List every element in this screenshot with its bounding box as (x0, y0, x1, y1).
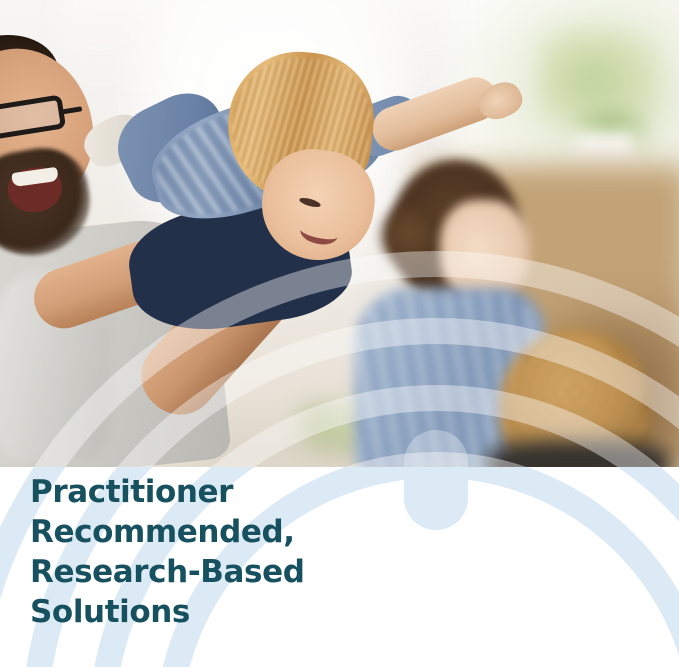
headline-panel: Practitioner Recommended, Research-Based… (0, 467, 679, 667)
headline-line-4: Solutions (30, 592, 450, 632)
hero-photo (0, 0, 679, 467)
headline-line-2: Recommended, (30, 512, 450, 552)
headline-line-3: Research-Based (30, 552, 450, 592)
concentric-arc-watermark-photo (0, 0, 679, 467)
page-title: Practitioner Recommended, Research-Based… (30, 472, 450, 632)
hero-banner: Practitioner Recommended, Research-Based… (0, 0, 679, 667)
headline-line-1: Practitioner (30, 472, 450, 512)
